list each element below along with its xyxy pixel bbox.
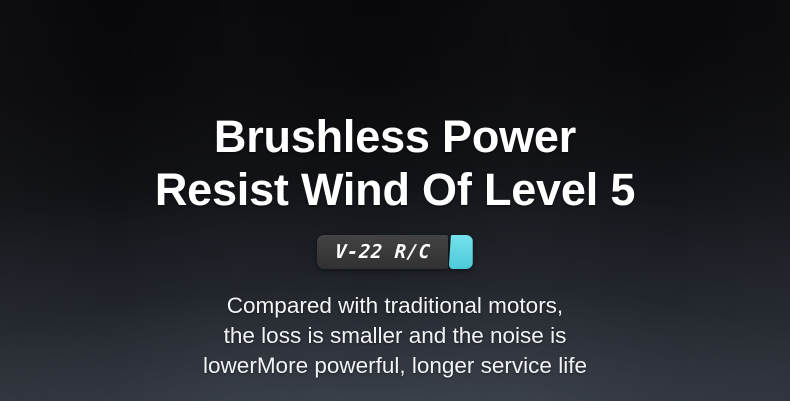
body-copy-line-3: lowerMore powerful, longer service life: [203, 351, 587, 381]
model-badge-accent-block: [449, 235, 473, 269]
model-badge: V-22 R/C: [317, 235, 473, 269]
hero-content: Brushless Power Resist Wind Of Level 5 V…: [0, 0, 790, 401]
body-copy-line-2: the loss is smaller and the noise is: [203, 321, 587, 351]
model-badge-body: V-22 R/C: [317, 235, 448, 269]
model-badge-label: V-22 R/C: [335, 243, 432, 262]
hero-banner: Brushless Power Resist Wind Of Level 5 V…: [0, 0, 790, 401]
body-copy-line-1: Compared with traditional motors,: [203, 291, 587, 321]
headline-line-2: Resist Wind Of Level 5: [155, 163, 635, 216]
hero-body-copy: Compared with traditional motors, the lo…: [203, 291, 587, 381]
headline-line-1: Brushless Power: [214, 110, 576, 163]
